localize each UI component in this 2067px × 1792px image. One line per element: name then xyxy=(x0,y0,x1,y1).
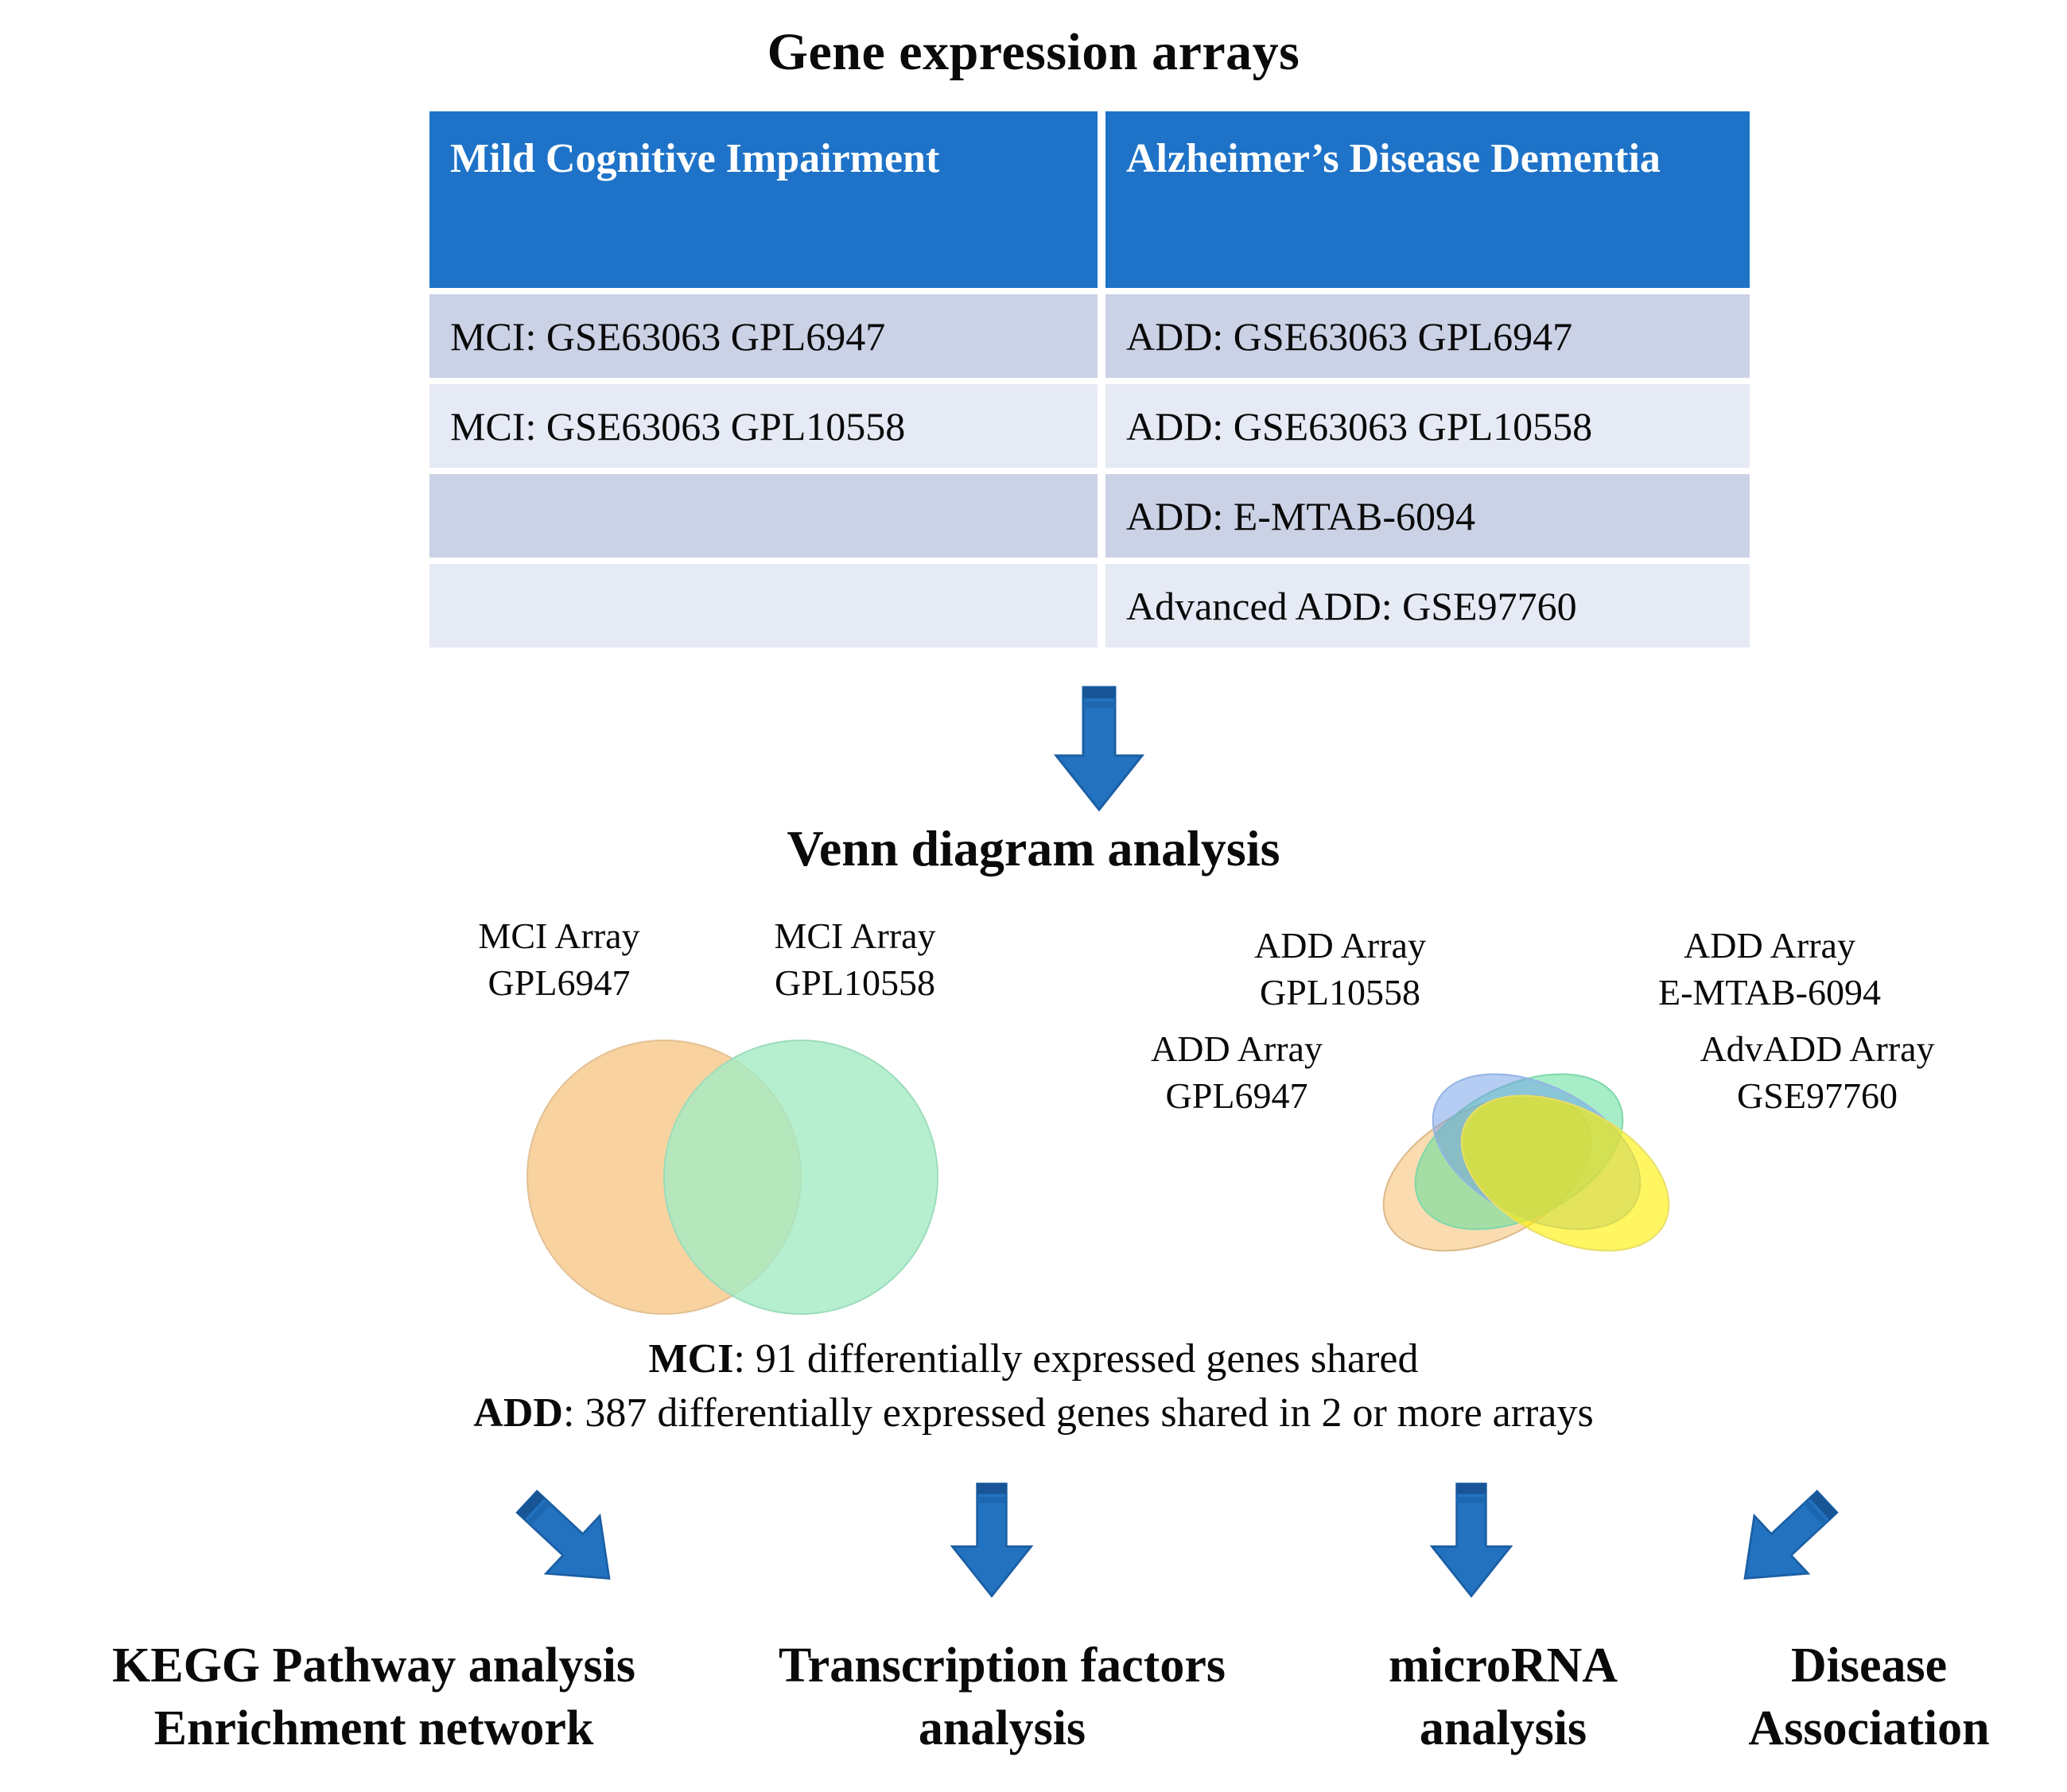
column-header-add: Alzheimer’s Disease Dementia xyxy=(1105,111,1750,288)
output-label-transcription-factors: Transcription factors analysis xyxy=(700,1635,1304,1761)
flow-arrow-to-microrna xyxy=(1428,1481,1515,1600)
output-label-disease-association: Disease Association xyxy=(1678,1635,2060,1761)
page-title: Gene expression arrays xyxy=(0,22,2067,83)
cell-add-4: Advanced ADD: GSE97760 xyxy=(1105,564,1750,647)
flow-arrow-to-transcription-factors xyxy=(948,1481,1035,1600)
flow-arrow-to-kegg xyxy=(495,1468,643,1614)
venn-diagram-add-4set xyxy=(1368,1018,1678,1308)
flow-arrow-to-disease-association xyxy=(1712,1468,1859,1614)
output-label-kegg: KEGG Pathway analysis Enrichment network xyxy=(16,1635,732,1761)
cell-mci-1: MCI: GSE63063 GPL6947 xyxy=(429,294,1098,378)
flow-arrow-down-main xyxy=(1051,686,1147,813)
venn-label-advadd-gse97760: AdvADD Array GSE97760 xyxy=(1662,1026,1972,1120)
venn-label-add-gpl10558: ADD Array GPL10558 xyxy=(1209,923,1471,1017)
table-row: Advanced ADD: GSE97760 xyxy=(429,564,1750,647)
venn-label-add-emtab: ADD Array E-MTAB-6094 xyxy=(1614,923,1925,1017)
result-line-add: ADD: 387 differentially expressed genes … xyxy=(0,1390,2067,1436)
table-row: ADD: E-MTAB-6094 xyxy=(429,474,1750,558)
result-mci-text: : 91 differentially expressed genes shar… xyxy=(733,1336,1418,1382)
gene-expression-arrays-table: Mild Cognitive Impairment Alzheimer’s Di… xyxy=(429,111,1750,647)
table-row: MCI: GSE63063 GPL6947 ADD: GSE63063 GPL6… xyxy=(429,294,1750,378)
venn-circle-mci-gpl10558 xyxy=(664,1040,938,1314)
result-line-mci: MCI: 91 differentially expressed genes s… xyxy=(0,1336,2067,1382)
cell-add-3: ADD: E-MTAB-6094 xyxy=(1105,474,1750,558)
cell-mci-2: MCI: GSE63063 GPL10558 xyxy=(429,384,1098,468)
result-mci-prefix: MCI xyxy=(649,1336,734,1382)
result-add-prefix: ADD xyxy=(473,1390,563,1436)
venn-diagram-mci-2set xyxy=(521,1034,966,1324)
table-header-row: Mild Cognitive Impairment Alzheimer’s Di… xyxy=(429,111,1750,288)
cell-mci-4 xyxy=(429,564,1098,647)
venn-section-title: Venn diagram analysis xyxy=(0,819,2067,878)
table-row: MCI: GSE63063 GPL10558 ADD: GSE63063 GPL… xyxy=(429,384,1750,468)
cell-add-2: ADD: GSE63063 GPL10558 xyxy=(1105,384,1750,468)
cell-add-1: ADD: GSE63063 GPL6947 xyxy=(1105,294,1750,378)
column-header-mci: Mild Cognitive Impairment xyxy=(429,111,1098,288)
cell-mci-3 xyxy=(429,474,1098,558)
venn-label-mci-gpl10558: MCI Array GPL10558 xyxy=(732,913,978,1007)
venn-label-mci-gpl6947: MCI Array GPL6947 xyxy=(436,913,682,1007)
venn-label-add-gpl6947: ADD Array GPL6947 xyxy=(1105,1026,1368,1120)
output-label-microrna: microRNA analysis xyxy=(1280,1635,1726,1761)
result-add-text: : 387 differentially expressed genes sha… xyxy=(563,1390,1594,1436)
